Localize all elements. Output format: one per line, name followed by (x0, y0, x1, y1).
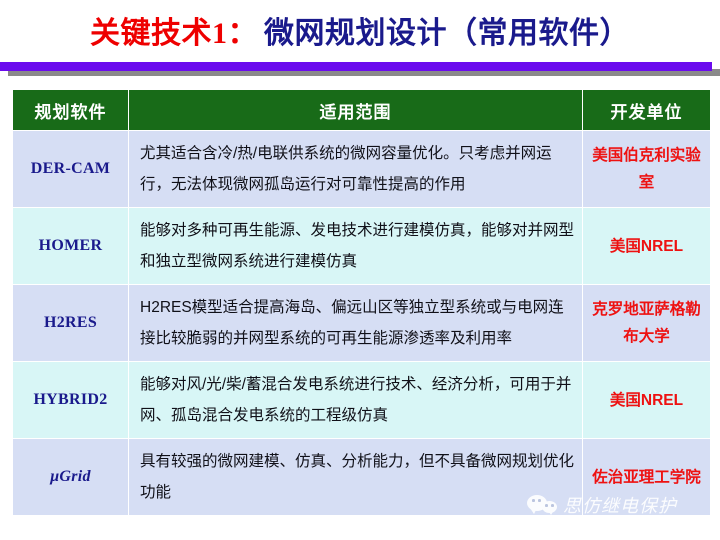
software-comparison-table: 规划软件 适用范围 开发单位 DER-CAM 尤其适合含冷/热/电联供系统的微网… (12, 89, 711, 516)
cell-application-scope: 能够对多种可再生能源、发电技术进行建模仿真，能够对并网型和独立型微网系统进行建模… (129, 208, 583, 285)
column-header-software: 规划软件 (13, 90, 129, 131)
page-title-main: 微网规划设计（常用软件） (264, 17, 630, 50)
table-row: DER-CAM 尤其适合含冷/热/电联供系统的微网容量优化。只考虑并网运行，无法… (13, 131, 711, 208)
page-title-prefix: 关键技术1： (90, 17, 258, 50)
table-header: 规划软件 适用范围 开发单位 (13, 90, 711, 131)
cell-application-scope: 能够对风/光/柴/蓄混合发电系统进行技术、经济分析，可用于并网、孤岛混合发电系统… (129, 362, 583, 439)
cell-application-scope: H2RES模型适合提高海岛、偏远山区等独立型系统或与电网连接比较脆弱的并网型系统… (129, 285, 583, 362)
cell-software-name: DER-CAM (13, 131, 129, 208)
cell-software-name: HYBRID2 (13, 362, 129, 439)
table-row: μGrid 具有较强的微网建模、仿真、分析能力，但不具备微网规划优化功能 佐治亚… (13, 439, 711, 516)
table-row: HYBRID2 能够对风/光/柴/蓄混合发电系统进行技术、经济分析，可用于并网、… (13, 362, 711, 439)
column-header-developer: 开发单位 (583, 90, 711, 131)
title-divider-bar (0, 62, 712, 71)
cell-developer: 美国伯克利实验室 (583, 131, 711, 208)
cell-software-name: H2RES (13, 285, 129, 362)
cell-software-name: HOMER (13, 208, 129, 285)
cell-developer: 美国NREL (583, 208, 711, 285)
cell-developer: 佐治亚理工学院 (583, 439, 711, 516)
cell-application-scope: 具有较强的微网建模、仿真、分析能力，但不具备微网规划优化功能 (129, 439, 583, 516)
column-header-scope: 适用范围 (129, 90, 583, 131)
table-header-row: 规划软件 适用范围 开发单位 (13, 90, 711, 131)
cell-software-name: μGrid (13, 439, 129, 516)
title-divider (0, 62, 720, 78)
table-row: HOMER 能够对多种可再生能源、发电技术进行建模仿真，能够对并网型和独立型微网… (13, 208, 711, 285)
cell-application-scope: 尤其适合含冷/热/电联供系统的微网容量优化。只考虑并网运行，无法体现微网孤岛运行… (129, 131, 583, 208)
software-comparison-table-wrapper: 规划软件 适用范围 开发单位 DER-CAM 尤其适合含冷/热/电联供系统的微网… (12, 89, 710, 519)
cell-developer: 克罗地亚萨格勒布大学 (583, 285, 711, 362)
cell-developer: 美国NREL (583, 362, 711, 439)
table-body: DER-CAM 尤其适合含冷/热/电联供系统的微网容量优化。只考虑并网运行，无法… (13, 131, 711, 516)
table-row: H2RES H2RES模型适合提高海岛、偏远山区等独立型系统或与电网连接比较脆弱… (13, 285, 711, 362)
page-title: 关键技术1：微网规划设计（常用软件） (0, 14, 720, 54)
